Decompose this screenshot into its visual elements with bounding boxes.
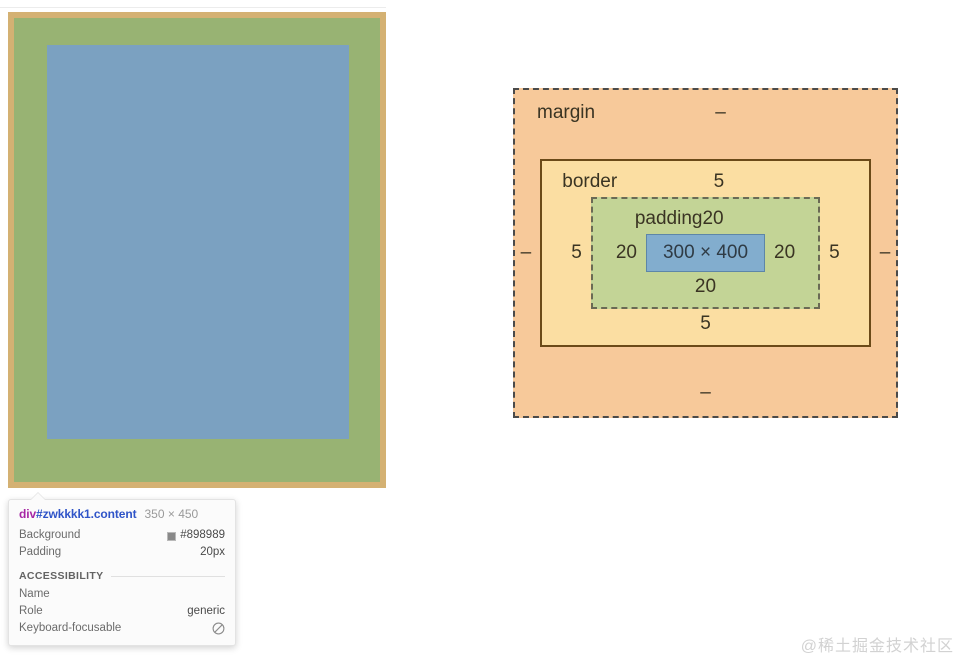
tooltip-row-background: Background #898989 <box>19 527 225 544</box>
tooltip-row-role: Role generic <box>19 603 225 620</box>
margin-right-value[interactable]: – <box>871 242 900 264</box>
element-dimensions: 350 × 450 <box>145 507 199 521</box>
margin-top-value[interactable]: – <box>715 102 726 124</box>
page-top-strip <box>0 0 386 8</box>
row-value-keyboard-focusable <box>212 622 225 635</box>
watermark: @稀土掘金技术社区 <box>801 632 954 656</box>
row-key-role: Role <box>19 603 43 620</box>
selector-id-class: #zwkkkk1.content <box>36 507 136 521</box>
padding-bottom-row: 20 <box>607 272 804 302</box>
box-model-border-box[interactable]: border 5 5 padding 20 20 300 × 400 20 <box>540 159 871 347</box>
accessibility-section-header: ACCESSIBILITY <box>19 570 225 582</box>
background-color-value: #898989 <box>180 527 225 544</box>
padding-top-value[interactable]: 20 <box>702 208 723 230</box>
border-bottom-row: 5 <box>562 309 849 339</box>
padding-left-value[interactable]: 20 <box>607 242 646 264</box>
row-value-background: #898989 <box>167 527 225 544</box>
margin-middle-row: – border 5 5 padding 20 20 3 <box>537 128 874 378</box>
border-top-value[interactable]: 5 <box>714 171 725 193</box>
border-bottom-value[interactable]: 5 <box>700 313 711 335</box>
padding-top-row: padding 20 <box>607 204 804 234</box>
box-model-padding-box[interactable]: padding 20 20 300 × 400 20 20 <box>591 197 820 309</box>
padding-middle-row: 20 300 × 400 20 <box>607 234 804 272</box>
tooltip-header: div#zwkkkk1.content 350 × 450 <box>19 507 225 521</box>
margin-top-row: margin – <box>537 98 874 128</box>
box-model-content-box[interactable]: 300 × 400 <box>646 234 765 272</box>
row-key-background: Background <box>19 527 80 544</box>
tooltip-row-name: Name <box>19 586 225 603</box>
no-entry-icon <box>212 622 225 635</box>
margin-bottom-row: – <box>537 378 874 408</box>
row-key-keyboard-focusable: Keyboard-focusable <box>19 620 121 637</box>
margin-left-value[interactable]: – <box>512 242 541 264</box>
row-key-name: Name <box>19 586 50 603</box>
border-left-value[interactable]: 5 <box>562 242 591 264</box>
border-top-row: border 5 <box>562 167 849 197</box>
padding-label: padding <box>635 208 703 230</box>
row-key-padding: Padding <box>19 544 61 561</box>
margin-label: margin <box>537 102 595 124</box>
border-middle-row: 5 padding 20 20 300 × 400 20 20 <box>562 197 849 309</box>
selector-tag: div <box>19 507 36 521</box>
tooltip-row-padding: Padding 20px <box>19 544 225 561</box>
padding-right-value[interactable]: 20 <box>765 242 804 264</box>
padding-bottom-value[interactable]: 20 <box>695 276 716 298</box>
overlay-padding-layer <box>14 18 380 482</box>
element-inspect-overlay[interactable] <box>8 12 386 488</box>
color-swatch-icon <box>167 532 176 541</box>
tooltip-row-keyboard-focusable: Keyboard-focusable <box>19 620 225 637</box>
box-model-margin-box[interactable]: margin – – border 5 5 padding 20 <box>513 88 898 418</box>
css-box-model-diagram: margin – – border 5 5 padding 20 <box>513 88 898 418</box>
overlay-margin-layer <box>8 12 386 488</box>
section-divider <box>111 576 225 577</box>
row-value-padding: 20px <box>200 544 225 561</box>
element-selector: div#zwkkkk1.content <box>19 507 137 521</box>
border-label: border <box>562 171 617 193</box>
row-value-role: generic <box>187 603 225 620</box>
overlay-content-layer <box>47 45 349 439</box>
inspector-tooltip: div#zwkkkk1.content 350 × 450 Background… <box>8 499 236 646</box>
border-right-value[interactable]: 5 <box>820 242 849 264</box>
accessibility-label: ACCESSIBILITY <box>19 570 103 582</box>
margin-bottom-value[interactable]: – <box>700 382 711 404</box>
tooltip-pointer-arrow <box>31 493 45 500</box>
